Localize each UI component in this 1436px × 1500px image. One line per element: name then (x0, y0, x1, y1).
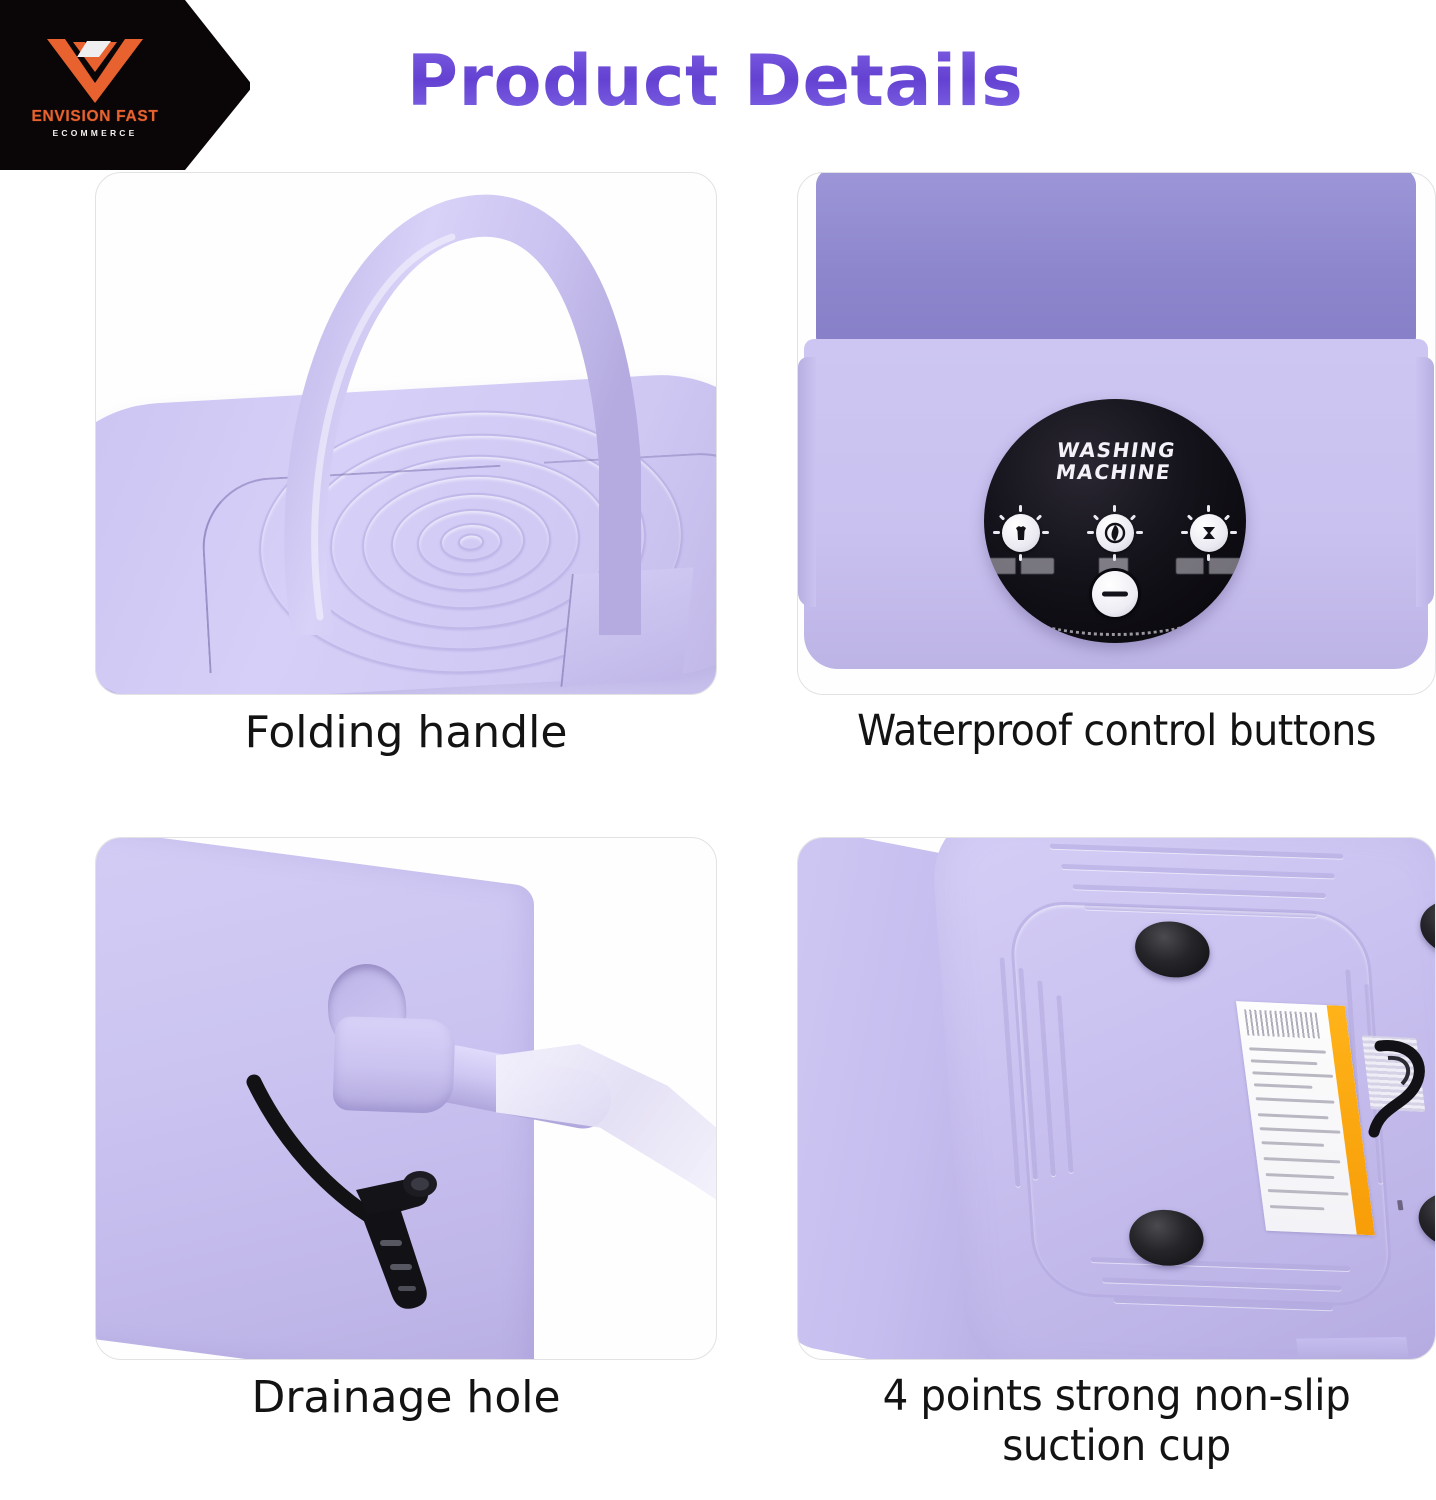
suction-cup (1417, 1191, 1436, 1249)
tshirt-icon (1002, 514, 1040, 552)
panel-folding-handle: Folding handle (95, 172, 717, 802)
dash-icon (1102, 592, 1128, 597)
timer-label (1176, 558, 1242, 574)
wash-mode-label (988, 558, 1054, 574)
control-panel-brand-text: WASHING MACHINE (984, 439, 1246, 484)
caption-line-2: suction cup (1002, 1421, 1231, 1471)
timer-icon (1190, 514, 1228, 552)
caption-line-1: 4 points strong non-slip (883, 1371, 1351, 1421)
panel-suction-cups: 4 points strong non-slip suction cup (797, 837, 1436, 1467)
brand-banner-inner: ENVISION FAST ECOMMERCE (0, 0, 190, 170)
wash-mode-button[interactable] (1002, 514, 1040, 552)
photo-drainage-hole (95, 837, 717, 1360)
screw-slot (1397, 1200, 1403, 1210)
panel-waterproof-control-buttons: WASHING MACHINE (797, 172, 1436, 802)
photo-suction-cups (797, 837, 1436, 1360)
envision-chevron-logo-icon (43, 35, 147, 105)
machine-lid-dark (816, 172, 1416, 345)
suction-cup (1418, 898, 1436, 956)
page-title: Product Details (250, 46, 1180, 116)
product-detail-grid: Folding handle WASHING MACHINE (0, 172, 1436, 1500)
caption-drainage-hole: Drainage hole (95, 1372, 717, 1423)
caption-folding-handle: Folding handle (95, 707, 717, 758)
panel-drainage-hole: Drainage hole (95, 837, 717, 1467)
base-foot-tab (1296, 1337, 1409, 1360)
timer-button[interactable] (1190, 514, 1228, 552)
caption-suction-cups: 4 points strong non-slip suction cup (816, 1372, 1417, 1472)
brand-name: ENVISION FAST (31, 109, 158, 125)
photo-folding-handle (95, 172, 717, 695)
caption-control-buttons: Waterproof control buttons (823, 707, 1411, 757)
brand-text-line2: MACHINE (1054, 460, 1173, 484)
spin-icon (1096, 514, 1134, 552)
brand-banner: ENVISION FAST ECOMMERCE (0, 0, 250, 170)
folding-handle-arch (216, 172, 668, 635)
photo-control-buttons: WASHING MACHINE (797, 172, 1436, 695)
brand-text-line1: WASHING (1055, 438, 1177, 462)
brand-subtitle: ECOMMERCE (53, 129, 138, 138)
control-panel: WASHING MACHINE (984, 399, 1246, 643)
control-button-row (1002, 505, 1228, 561)
spin-dry-button[interactable] (1096, 514, 1134, 552)
